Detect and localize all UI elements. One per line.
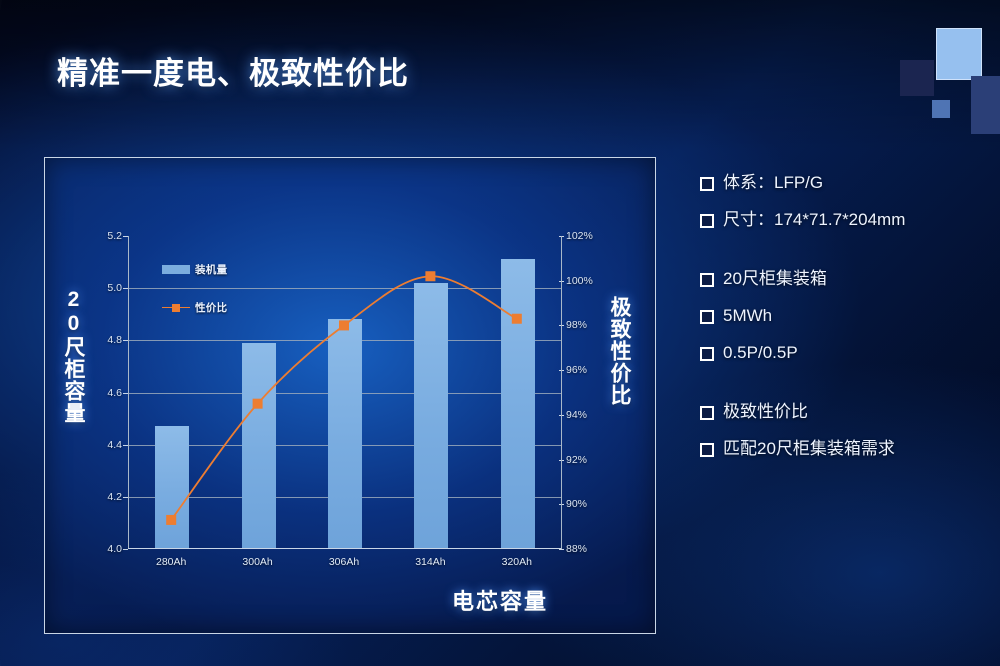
y-axis-right-tick-label: 102% <box>566 230 593 242</box>
spec-bullet: 匹配20尺柜集装箱需求 <box>700 438 990 461</box>
bullet-square-icon <box>700 177 714 191</box>
spec-bullet-label: 0.5P/0.5P <box>723 342 798 365</box>
y-axis-left-tick-label: 4.6 <box>107 387 122 399</box>
legend-item-line: 性价比 <box>162 300 227 314</box>
decor-square-large-light <box>936 28 982 80</box>
legend-line-swatch-icon <box>162 303 190 312</box>
y-axis-left-tick-label: 5.2 <box>107 230 122 242</box>
spec-group-one: 体系：LFP/G尺寸：174*71.7*204mm <box>700 172 990 232</box>
bullet-square-icon <box>700 347 714 361</box>
y-axis-right-tick-label: 88% <box>566 543 587 555</box>
slide-title: 精准一度电、极致性价比 <box>57 48 409 93</box>
legend-line-label: 性价比 <box>195 300 227 315</box>
y-axis-left-tick <box>123 549 128 550</box>
legend-bar-label: 装机量 <box>195 262 227 277</box>
x-axis-tick-label: 280Ah <box>156 556 186 568</box>
y-axis-right-tick-label: 100% <box>566 275 593 287</box>
y-axis-left-tick-label: 4.8 <box>107 334 122 346</box>
x-axis-tick-label: 300Ah <box>242 556 272 568</box>
y-axis-right-title: 极致性价比 <box>606 296 634 406</box>
decor-square-small <box>932 100 950 118</box>
line-marker-320Ah <box>512 314 522 324</box>
y-axis-right-tick-label: 98% <box>566 319 587 331</box>
x-axis-title: 电芯容量 <box>0 584 1000 616</box>
bullet-square-icon <box>700 310 714 324</box>
spec-spacer-two <box>700 379 990 401</box>
spec-bullet-label: 5MWh <box>723 305 772 328</box>
spec-group-three: 极致性价比匹配20尺柜集装箱需求 <box>700 401 990 461</box>
spec-bullet: 体系：LFP/G <box>700 172 990 195</box>
bullet-square-icon <box>700 214 714 228</box>
line-marker-280Ah <box>166 515 176 525</box>
decor-square-medium <box>971 76 1000 134</box>
x-axis-tick-label: 306Ah <box>329 556 359 568</box>
spec-bullet-label: 极致性价比 <box>723 401 808 424</box>
decor-square-dark <box>900 60 934 96</box>
y-axis-right-tick <box>559 549 564 550</box>
spec-bullet: 极致性价比 <box>700 401 990 424</box>
x-axis-tick-label: 314Ah <box>415 556 445 568</box>
y-axis-left-tick-label: 4.2 <box>107 491 122 503</box>
bullet-square-icon <box>700 273 714 287</box>
spec-bullet-label: 体系：LFP/G <box>723 172 823 195</box>
line-marker-300Ah <box>253 399 263 409</box>
y-axis-left-tick-label: 4.0 <box>107 543 122 555</box>
x-axis-tick-label: 320Ah <box>502 556 532 568</box>
spec-bullet-label: 尺寸：174*71.7*204mm <box>723 209 905 232</box>
spec-bullet: 0.5P/0.5P <box>700 342 990 365</box>
chart-legend: 装机量 性价比 <box>162 262 227 338</box>
y-axis-right-labels: 88%90%92%94%96%98%100%102% <box>566 236 606 549</box>
y-axis-left-title: 20尺柜容量 <box>60 288 88 424</box>
bullet-square-icon <box>700 406 714 420</box>
y-axis-right-tick-label: 92% <box>566 454 587 466</box>
legend-item-bar: 装机量 <box>162 262 227 276</box>
slide-background: 精准一度电、极致性价比 4.04.24.44.64.85.05.2 88%90%… <box>0 0 1000 666</box>
y-axis-left-tick-label: 5.0 <box>107 282 122 294</box>
spec-bullet: 20尺柜集装箱 <box>700 268 990 291</box>
bullet-square-icon <box>700 443 714 457</box>
spec-bullet: 5MWh <box>700 305 990 328</box>
spec-bullet-label: 20尺柜集装箱 <box>723 268 827 291</box>
spec-list: 体系：LFP/G尺寸：174*71.7*204mm 20尺柜集装箱5MWh0.5… <box>700 172 990 475</box>
y-axis-left-tick-label: 4.4 <box>107 439 122 451</box>
y-axis-right-tick-label: 94% <box>566 409 587 421</box>
line-marker-314Ah <box>425 271 435 281</box>
spec-spacer-one <box>700 246 990 268</box>
y-axis-left-labels: 4.04.24.44.64.85.05.2 <box>88 236 122 549</box>
y-axis-right-tick-label: 96% <box>566 364 587 376</box>
line-marker-306Ah <box>339 320 349 330</box>
spec-bullet-label: 匹配20尺柜集装箱需求 <box>723 438 895 461</box>
legend-bar-swatch-icon <box>162 265 190 274</box>
y-axis-right-tick-label: 90% <box>566 498 587 510</box>
spec-bullet: 尺寸：174*71.7*204mm <box>700 209 990 232</box>
spec-group-two: 20尺柜集装箱5MWh0.5P/0.5P <box>700 268 990 365</box>
